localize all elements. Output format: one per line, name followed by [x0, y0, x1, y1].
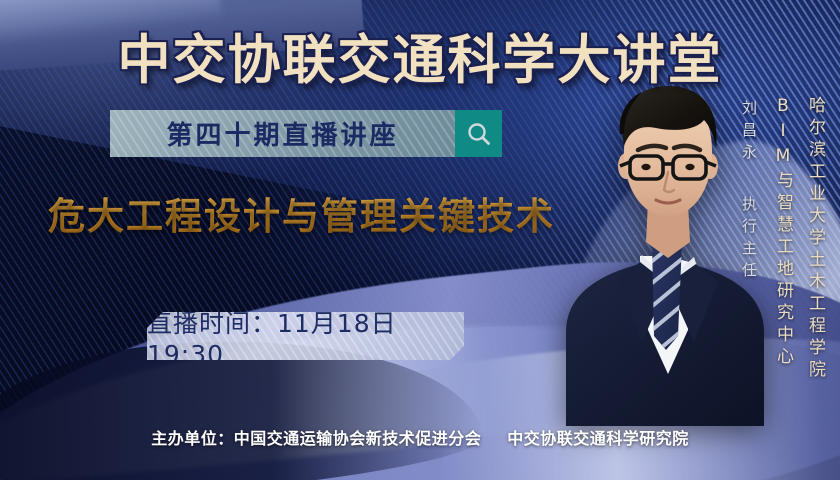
speaker-affiliation-center: BIM与智慧工地研究中心: [771, 96, 796, 369]
footer-coorganizer: 中交协联交通科学研究院: [507, 429, 689, 448]
search-icon-box[interactable]: [455, 110, 502, 157]
footer-organizer: 主办单位：中国交通运输协会新技术促进分会: [151, 429, 481, 448]
livestream-time-label: 直播时间：11月18日19:30: [147, 312, 464, 360]
speaker-name: 刘昌永: [739, 100, 760, 166]
speaker-role: 执行主任: [739, 196, 760, 284]
footer: 主办单位：中国交通运输协会新技术促进分会中交协联交通科学研究院: [0, 425, 840, 449]
search-icon: [466, 121, 492, 147]
speaker-affiliation-school: 哈尔滨工业大学土木工程学院: [803, 96, 828, 382]
session-label: 第四十期直播讲座: [166, 115, 398, 152]
lecture-title: 危大工程设计与管理关键技术: [48, 186, 555, 240]
session-banner: 第四十期直播讲座: [110, 110, 455, 157]
livestream-poster: 中交协联交通科学大讲堂 第四十期直播讲座 危大工程设计与管理关键技术 直播时间：…: [0, 0, 840, 480]
page-title: 中交协联交通科学大讲堂: [0, 18, 840, 94]
livestream-time-banner: 直播时间：11月18日19:30: [147, 312, 464, 360]
